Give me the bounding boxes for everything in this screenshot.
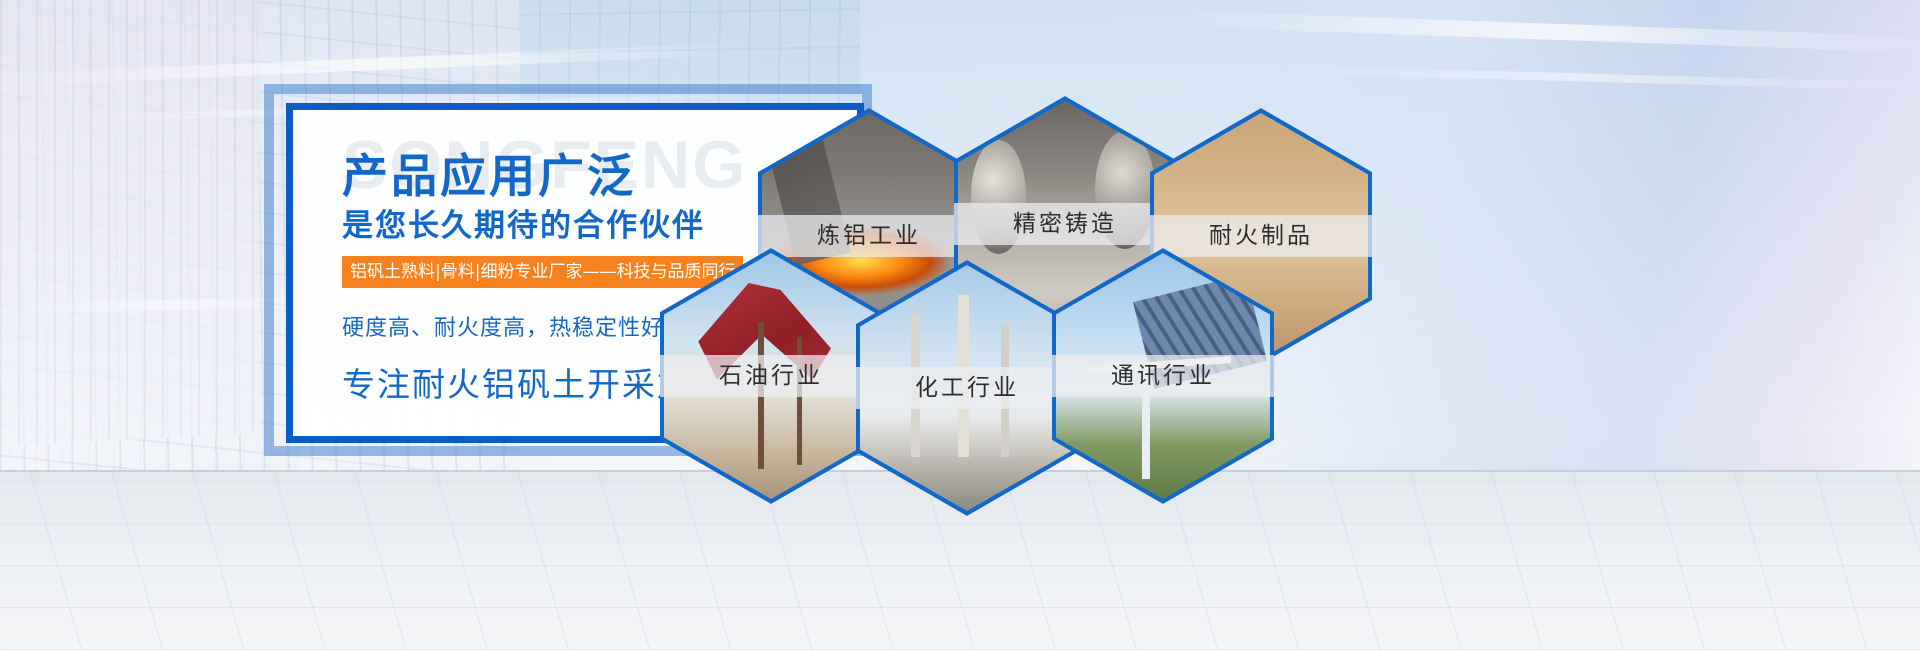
hex-label: 石油行业: [660, 355, 882, 397]
hex-label: 耐火制品: [1150, 215, 1372, 257]
ribbon-tagline: 铝矾土熟料|骨料|细粉专业厂家——科技与品质同行: [342, 256, 743, 288]
hex-label: 化工行业: [856, 367, 1078, 409]
subheadline: 是您长久期待的合作伙伴: [342, 200, 705, 245]
hex-label: 炼铝工业: [758, 215, 980, 257]
light-streak: [1180, 11, 1920, 54]
hex-label: 精密铸造: [954, 203, 1176, 245]
light-streak: [1280, 65, 1920, 91]
hero-banner: SONGFENG 产品应用广泛 是您长久期待的合作伙伴 铝矾土熟料|骨料|细粉专…: [0, 0, 1920, 650]
industry-hexagon-cluster: 炼铝工业 精密铸造 耐火制品 石油行业: [758, 96, 1358, 536]
headline: 产品应用广泛: [342, 140, 636, 206]
hex-label: 通讯行业: [1052, 355, 1274, 397]
